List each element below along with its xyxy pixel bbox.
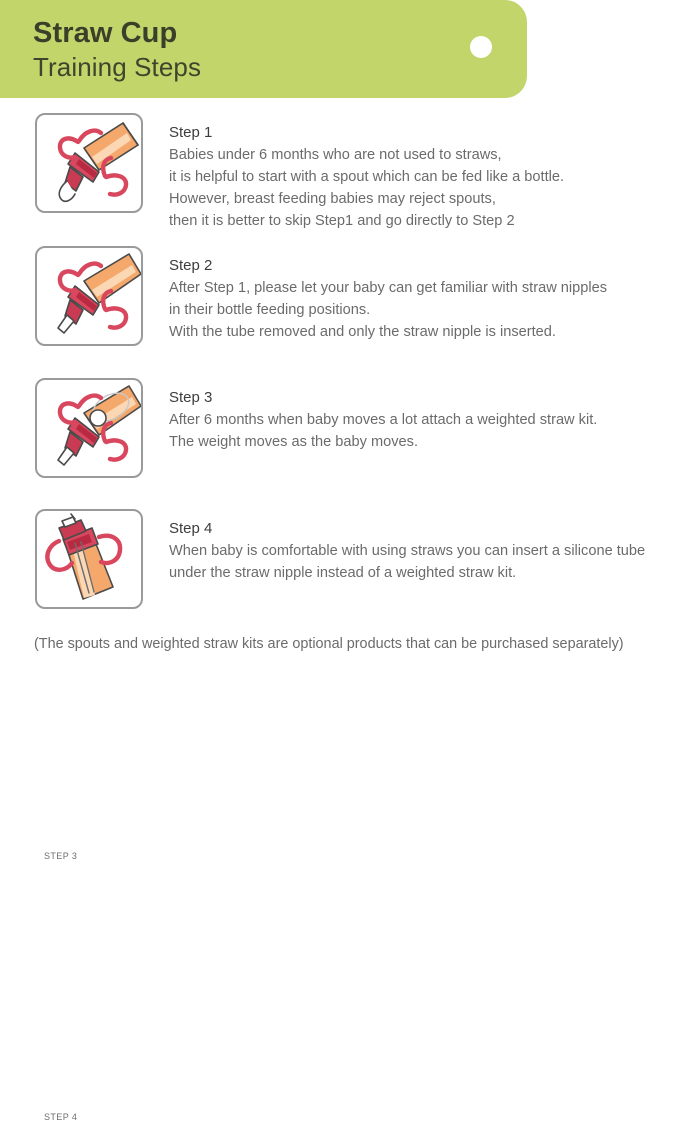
step-heading: Step 1 (169, 122, 564, 143)
list-item: Step 1 Babies under 6 months who are not… (0, 113, 679, 246)
step-line: However, breast feeding babies may rejec… (169, 188, 564, 210)
step-line: under the straw nipple instead of a weig… (169, 562, 645, 584)
step-2-text: Step 2 After Step 1, please let your bab… (169, 246, 607, 343)
title-subtitle: Training Steps (33, 51, 201, 83)
steps-list: Step 1 Babies under 6 months who are not… (0, 113, 679, 629)
list-item: Step 3 After 6 months when baby moves a … (0, 378, 679, 509)
step-line: With the tube removed and only the straw… (169, 321, 607, 343)
step-line: it is helpful to start with a spout whic… (169, 166, 564, 188)
step-line: then it is better to skip Step1 and go d… (169, 210, 564, 232)
step-1-thumbnail (35, 113, 143, 213)
step-3-text: Step 3 After 6 months when baby moves a … (169, 378, 597, 453)
silicone-tube-bottle-icon (37, 511, 141, 607)
step-heading: Step 4 (169, 518, 645, 539)
list-item: Step 4 When baby is comfortable with usi… (0, 509, 679, 629)
title-main: Straw Cup (33, 15, 201, 51)
straw-nipple-bottle-icon (37, 248, 141, 344)
tag-hole-icon (470, 36, 492, 58)
step-heading: Step 2 (169, 255, 607, 276)
step-line: After 6 months when baby moves a lot att… (169, 409, 597, 431)
step-line: When baby is comfortable with using stra… (169, 540, 645, 562)
step-line: The weight moves as the baby moves. (169, 431, 597, 453)
step-3-thumbnail (35, 378, 143, 478)
page-title: Straw Cup Training Steps (33, 15, 201, 83)
list-item: Step 2 After Step 1, please let your bab… (0, 246, 679, 378)
step-4-text: Step 4 When baby is comfortable with usi… (169, 509, 645, 584)
step-2-thumbnail (35, 246, 143, 346)
step-line: Babies under 6 months who are not used t… (169, 144, 564, 166)
header-tag: Straw Cup Training Steps (0, 0, 527, 98)
footer-note: (The spouts and weighted straw kits are … (34, 634, 624, 654)
step-4-thumbnail (35, 509, 143, 609)
step-heading: Step 3 (169, 387, 597, 408)
spout-bottle-tilted-icon (37, 115, 141, 211)
weighted-straw-kit-icon (37, 380, 141, 476)
step-line: in their bottle feeding positions. (169, 299, 607, 321)
step-line: After Step 1, please let your baby can g… (169, 277, 607, 299)
step-1-text: Step 1 Babies under 6 months who are not… (169, 113, 564, 232)
